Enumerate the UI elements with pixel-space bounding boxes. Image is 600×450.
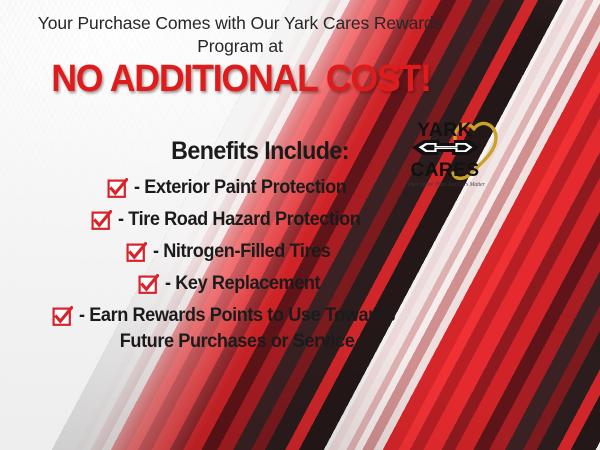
checked-checkbox-icon (107, 178, 128, 199)
benefit-item: - Earn Rewards Points to Use Towards Fut… (0, 302, 470, 354)
benefit-item: - Key Replacement (0, 270, 470, 297)
logo-bottom-word: CARES (410, 160, 479, 181)
headline: NO ADDITIONAL COST! (24, 58, 458, 100)
chevrolet-bowtie-icon (412, 140, 479, 155)
benefit-label: - Nitrogen-Filled Tires (153, 238, 330, 265)
logo-tagline: Where More Than Just Cars Matter (408, 182, 486, 188)
promotional-banner: Your Purchase Comes with Our Yark Cares … (0, 0, 600, 450)
benefit-item: - Nitrogen-Filled Tires (0, 238, 470, 265)
benefit-label: - Tire Road Hazard Protection (118, 206, 360, 233)
checked-checkbox-icon (126, 242, 147, 263)
checked-checkbox-icon (91, 210, 112, 231)
benefits-list: - Exterior Paint Protection - Tire Road … (0, 174, 470, 359)
benefit-label: - Earn Rewards Points to Use Towards Fut… (79, 302, 395, 354)
yark-cares-logo: YARK CARES Where More Than Just Cars Mat… (408, 114, 520, 192)
subtitle: Your Purchase Comes with Our Yark Cares … (14, 12, 466, 58)
benefit-label: - Key Replacement (165, 270, 320, 297)
checked-checkbox-icon (52, 306, 73, 327)
content-layer: Your Purchase Comes with Our Yark Cares … (0, 0, 600, 450)
benefit-item: - Exterior Paint Protection (0, 174, 470, 201)
benefit-item: - Tire Road Hazard Protection (0, 206, 470, 233)
checked-checkbox-icon (138, 274, 159, 295)
benefits-heading: Benefits Include: (121, 136, 400, 166)
logo-top-word: YARK (417, 120, 472, 141)
benefit-label: - Exterior Paint Protection (134, 174, 346, 201)
